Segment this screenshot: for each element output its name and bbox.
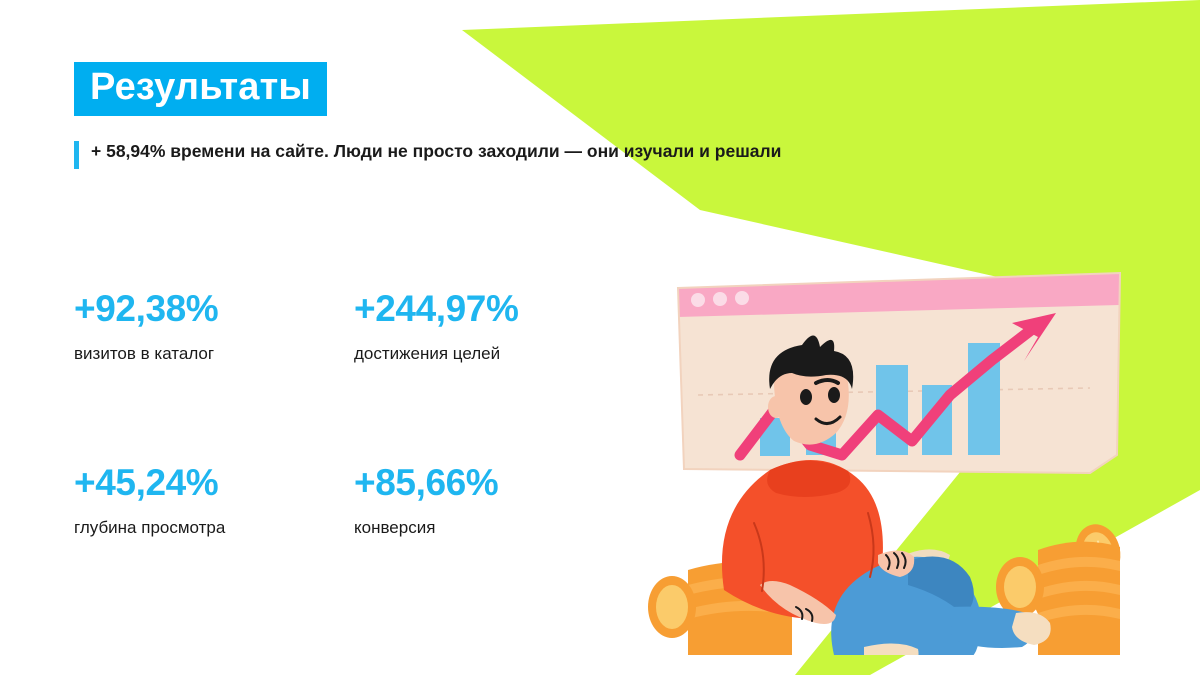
browser-dot-2 (713, 292, 727, 306)
stat-label: визитов в каталог (74, 344, 354, 364)
character-ear (768, 396, 784, 418)
page-title-badge: Результаты (74, 62, 327, 116)
stat-label: конверсия (354, 518, 634, 538)
stat-value: +244,97% (354, 290, 634, 327)
stats-grid: +92,38% визитов в каталог +244,97% дости… (74, 290, 634, 539)
stat-value: +45,24% (74, 464, 354, 501)
browser-dot-1 (691, 293, 705, 307)
character-eye-left (800, 389, 812, 405)
stat-label: глубина просмотра (74, 518, 354, 538)
stat-value: +92,38% (74, 290, 354, 327)
subtitle-text: + 58,94% времени на сайте. Люди не прост… (91, 140, 781, 163)
stat-visits-to-catalog: +92,38% визитов в каталог (74, 290, 354, 364)
stat-goal-completions: +244,97% достижения целей (354, 290, 634, 364)
stats-row-bottom: +45,24% глубина просмотра +85,66% конвер… (74, 464, 634, 538)
chart-bar (876, 365, 908, 455)
stat-value: +85,66% (354, 464, 634, 501)
stat-scroll-depth: +45,24% глубина просмотра (74, 464, 354, 538)
stat-conversion: +85,66% конверсия (354, 464, 634, 538)
illustration-person-with-laptop-growth-chart (620, 255, 1180, 655)
character-eye-right (828, 387, 840, 403)
slide-root: Результаты + 58,94% времени на сайте. Лю… (0, 0, 1200, 675)
subtitle: + 58,94% времени на сайте. Люди не прост… (74, 140, 781, 169)
stat-label: достижения целей (354, 344, 634, 364)
stats-row-top: +92,38% визитов в каталог +244,97% дости… (74, 290, 634, 364)
page-title: Результаты (90, 68, 311, 106)
browser-window-icon (678, 273, 1120, 473)
browser-dot-3 (735, 291, 749, 305)
subtitle-accent-bar (74, 141, 79, 169)
